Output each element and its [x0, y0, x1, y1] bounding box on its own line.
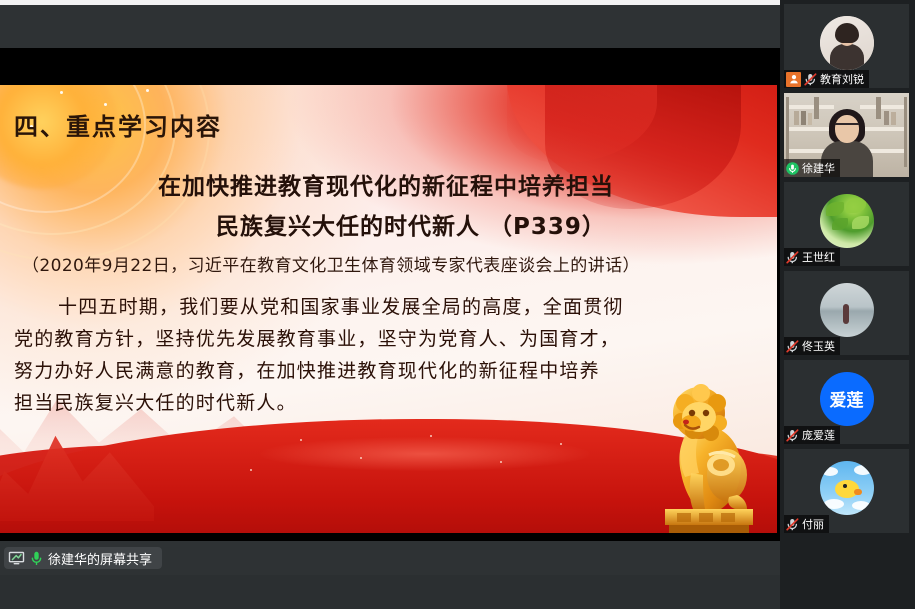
sparkle-icon: [146, 89, 149, 92]
sparkle-icon: [560, 443, 562, 445]
microphone-on-icon: [31, 551, 42, 566]
screen-share-status-bar: 徐建华的屏幕共享: [0, 541, 780, 575]
sparkle-icon: [104, 103, 107, 106]
green-leaves-avatar-icon: [820, 194, 874, 248]
avatar: [820, 283, 874, 337]
participant-name: 徐建华: [802, 160, 835, 176]
participant-rail[interactable]: 教育刘锐: [780, 0, 915, 609]
slide-body-line: 十四五时期，我们要从党和国家事业发展全局的高度，全面贯彻: [14, 291, 762, 323]
slide-section-title: 四、重点学习内容: [14, 107, 222, 142]
avatar: [820, 461, 874, 515]
shared-screen-stage[interactable]: 四、重点学习内容 在加快推进教育现代化的新征程中培养担当 民族复兴大任的时代新人…: [0, 5, 780, 575]
participant-name: 庞爱莲: [802, 427, 835, 443]
sparkle-icon: [430, 435, 432, 437]
microphone-muted-icon: [786, 340, 799, 353]
meeting-window: 四、重点学习内容 在加快推进教育现代化的新征程中培养担当 民族复兴大任的时代新人…: [0, 0, 915, 609]
microphone-muted-icon: [786, 518, 799, 531]
microphone-muted-icon: [804, 73, 817, 86]
slide-body-line: 党的教育方针，坚持优先发展教育事业，坚守为党育人、为国育才，: [14, 323, 762, 355]
person-photo-avatar-icon: [820, 16, 874, 70]
slide-body-line: 担当民族复兴大任的时代新人。: [14, 387, 762, 419]
participant-tile-host[interactable]: 教育刘锐: [784, 4, 909, 88]
slide-heading-line-2: 民族复兴大任的时代新人 （P339）: [216, 207, 606, 241]
blue-initials-avatar-icon: 爱莲: [820, 372, 874, 426]
participant-tile[interactable]: 王世红: [784, 182, 909, 266]
avatar: [820, 16, 874, 70]
sparkle-icon: [500, 461, 502, 463]
slide-body-line: 努力办好人民满意的教育，在加快推进教育现代化的新征程中培养: [14, 355, 762, 387]
avatar: [820, 194, 874, 248]
sparkle-icon: [300, 439, 302, 441]
screen-share-label: 徐建华的屏幕共享: [48, 549, 152, 568]
microphone-muted-icon: [786, 429, 799, 442]
participant-tile[interactable]: 付丽: [784, 449, 909, 533]
tweety-bird-avatar-icon: [820, 461, 874, 515]
participant-name: 教育刘锐: [820, 71, 864, 87]
sparkle-icon: [360, 457, 362, 459]
host-badge-icon: [786, 72, 801, 87]
participant-namebar: 付丽: [784, 515, 829, 533]
participant-name: 佟玉英: [802, 338, 835, 354]
participant-tile[interactable]: 佟玉英: [784, 271, 909, 355]
screen-share-indicator[interactable]: 徐建华的屏幕共享: [4, 547, 162, 569]
slide-citation: （2020年9月22日，习近平在教育文化卫生体育领域专家代表座谈会上的讲话）: [22, 251, 640, 276]
participant-namebar: 庞爱莲: [784, 426, 840, 444]
slide-body-paragraph: 十四五时期，我们要从党和国家事业发展全局的高度，全面贯彻 党的教育方针，坚持优先…: [14, 291, 762, 419]
silk-highlight: [260, 437, 590, 471]
avatar-initials: 爱莲: [830, 386, 864, 411]
sparkle-icon: [250, 469, 252, 471]
participant-name: 付丽: [802, 516, 824, 532]
presentation-slide: 四、重点学习内容 在加快推进教育现代化的新征程中培养担当 民族复兴大任的时代新人…: [0, 85, 777, 533]
participant-namebar: 佟玉英: [784, 337, 840, 355]
avatar: 爱莲: [820, 372, 874, 426]
participant-namebar: 徐建华: [784, 159, 840, 177]
participant-namebar: 教育刘锐: [784, 70, 869, 88]
sparkle-icon: [60, 91, 63, 94]
participant-tile-active-speaker[interactable]: 徐建华: [784, 93, 909, 177]
screen-share-icon: [8, 551, 25, 565]
seaside-avatar-icon: [820, 283, 874, 337]
participant-name: 王世红: [802, 249, 835, 265]
participant-tile[interactable]: 爱莲 庞爱莲: [784, 360, 909, 444]
microphone-on-icon: [786, 162, 799, 175]
participant-namebar: 王世红: [784, 248, 840, 266]
slide-heading-line-1: 在加快推进教育现代化的新征程中培养担当: [158, 167, 614, 201]
microphone-muted-icon: [786, 251, 799, 264]
